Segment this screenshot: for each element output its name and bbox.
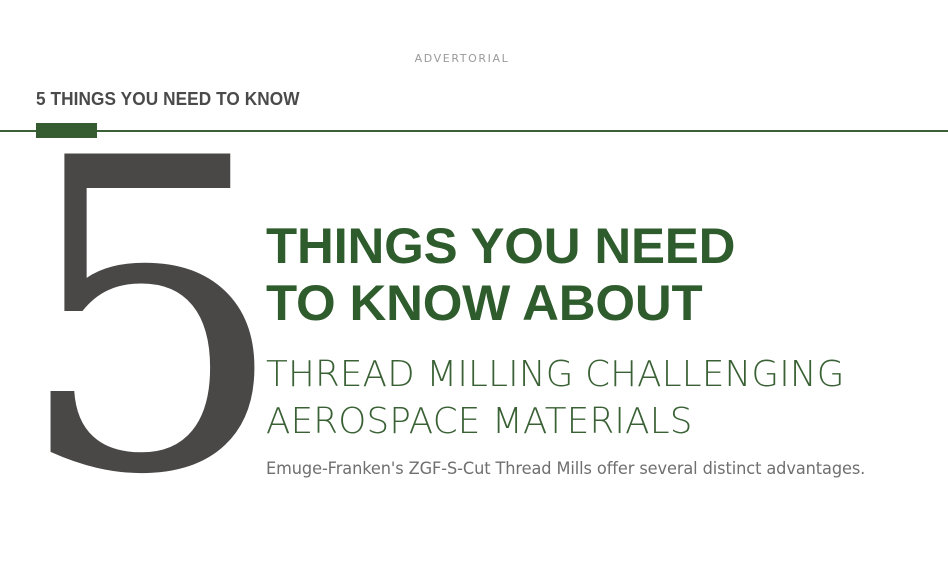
headline-line-2: TO KNOW ABOUT: [266, 275, 939, 332]
headline-line-1: THINGS YOU NEED: [266, 218, 939, 275]
advertorial-kicker: ADVERTORIAL: [0, 52, 924, 65]
subhead-line-2: AEROSPACE MATERIALS: [266, 398, 939, 445]
headline-block: THINGS YOU NEED TO KNOW ABOUT: [266, 218, 926, 332]
subhead-block: THREAD MILLING CHALLENGING AEROSPACE MAT…: [266, 351, 946, 445]
subhead-line-1: THREAD MILLING CHALLENGING: [266, 351, 939, 398]
caption-text: Emuge-Franken's ZGF-S-Cut Thread Mills o…: [266, 459, 865, 478]
decorative-numeral-five: 5: [14, 104, 288, 534]
